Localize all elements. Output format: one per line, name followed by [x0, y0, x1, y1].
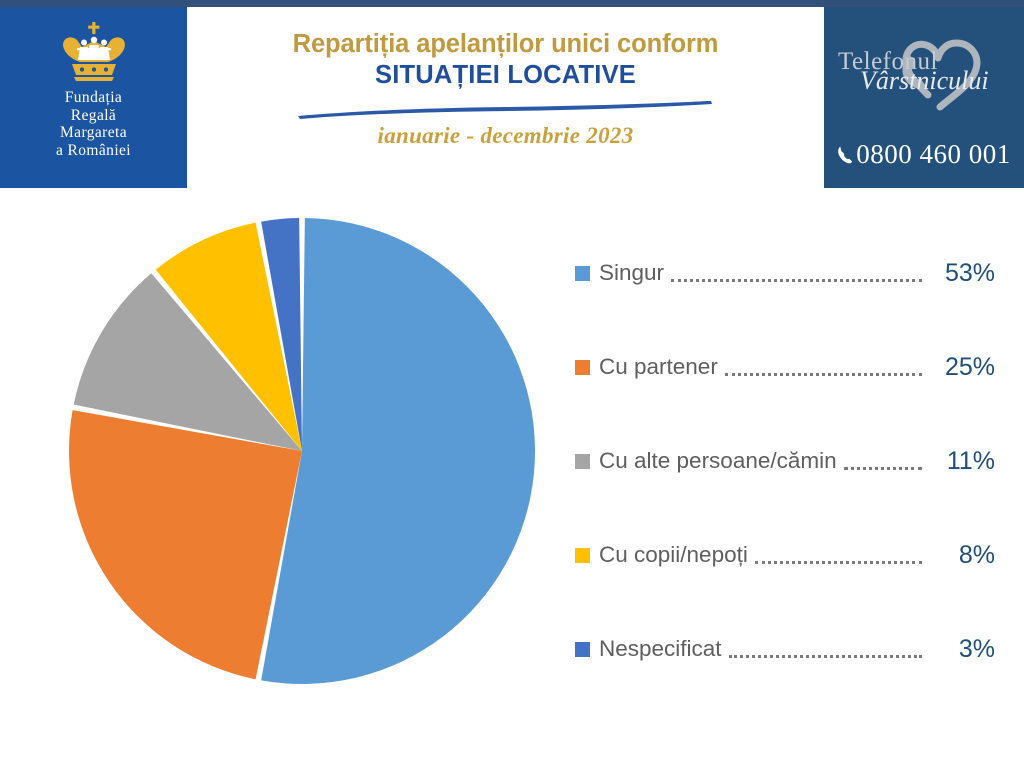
legend-label-cu-alte-persoane-camin: Cu alte persoane/cămin — [599, 448, 837, 474]
legend-swatch-cu-alte-persoane-camin — [575, 454, 590, 469]
legend-value-singur: 53% — [929, 259, 995, 288]
legend-item-nespecificat[interactable]: Nespecificat 3% — [575, 602, 995, 696]
legend-value-cu-copii-nepoti: 8% — [929, 541, 995, 570]
legend-item-cu-copii-nepoti[interactable]: Cu copii/nepoți 8% — [575, 508, 995, 602]
hotline-number-row: 0800 460 001 — [824, 139, 1024, 170]
royal-crown-icon — [48, 21, 140, 87]
legend-item-cu-alte-persoane-camin[interactable]: Cu alte persoane/cămin 11% — [575, 414, 995, 508]
phone-handset-icon — [837, 145, 853, 165]
page-subtitle: ianuarie - decembrie 2023 — [187, 123, 824, 149]
foundation-name-line-1: Fundația — [56, 89, 131, 107]
legend-label-nespecificat: Nespecificat — [599, 636, 722, 662]
legend-leader-nespecificat — [729, 641, 922, 658]
brush-underline-decoration — [296, 99, 716, 121]
chart-legend: Singur 53% Cu partener 25% Cu alte perso… — [575, 226, 995, 696]
phone-heart-icon — [832, 21, 1016, 121]
legend-leader-singur — [671, 265, 922, 282]
legend-label-singur: Singur — [599, 260, 664, 286]
hotline-phone-number: 0800 460 001 — [856, 139, 1011, 170]
foundation-name-line-4: a României — [56, 142, 131, 160]
hotline-logo-panel: Telefonul Vârstnicului 0800 460 001 — [824, 7, 1024, 188]
legend-item-cu-partener[interactable]: Cu partener 25% — [575, 320, 995, 414]
legend-leader-cu-partener — [725, 359, 922, 376]
legend-swatch-singur — [575, 266, 590, 281]
header-band: Fundația Regală Margareta a României Rep… — [0, 7, 1024, 188]
legend-value-cu-partener: 25% — [929, 353, 995, 382]
foundation-logo-panel: Fundația Regală Margareta a României — [0, 7, 187, 188]
legend-label-cu-partener: Cu partener — [599, 354, 718, 380]
chart-area: Singur 53% Cu partener 25% Cu alte perso… — [0, 188, 1024, 768]
legend-swatch-cu-copii-nepoti — [575, 548, 590, 563]
foundation-name: Fundația Regală Margareta a României — [56, 89, 131, 159]
foundation-name-line-3: Margareta — [56, 124, 131, 142]
top-accent-strip — [0, 0, 1024, 7]
title-block: Repartiția apelanților unici conform SIT… — [187, 7, 824, 188]
legend-swatch-cu-partener — [575, 360, 590, 375]
page-title-line-2: SITUAȚIEI LOCATIVE — [187, 59, 824, 91]
pie-slice[interactable] — [261, 218, 535, 684]
pie-chart — [52, 208, 572, 708]
legend-item-singur[interactable]: Singur 53% — [575, 226, 995, 320]
legend-value-cu-alte-persoane-camin: 11% — [929, 447, 995, 476]
legend-value-nespecificat: 3% — [929, 635, 995, 664]
legend-label-cu-copii-nepoti: Cu copii/nepoți — [599, 542, 748, 568]
pie-chart-svg — [52, 208, 572, 708]
page-title-line-1: Repartiția apelanților unici conform — [187, 29, 824, 59]
foundation-name-line-2: Regală — [56, 107, 131, 125]
legend-leader-cu-alte-persoane-camin — [844, 453, 922, 470]
legend-swatch-nespecificat — [575, 642, 590, 657]
legend-leader-cu-copii-nepoti — [755, 547, 922, 564]
pie-slice[interactable] — [69, 410, 302, 679]
